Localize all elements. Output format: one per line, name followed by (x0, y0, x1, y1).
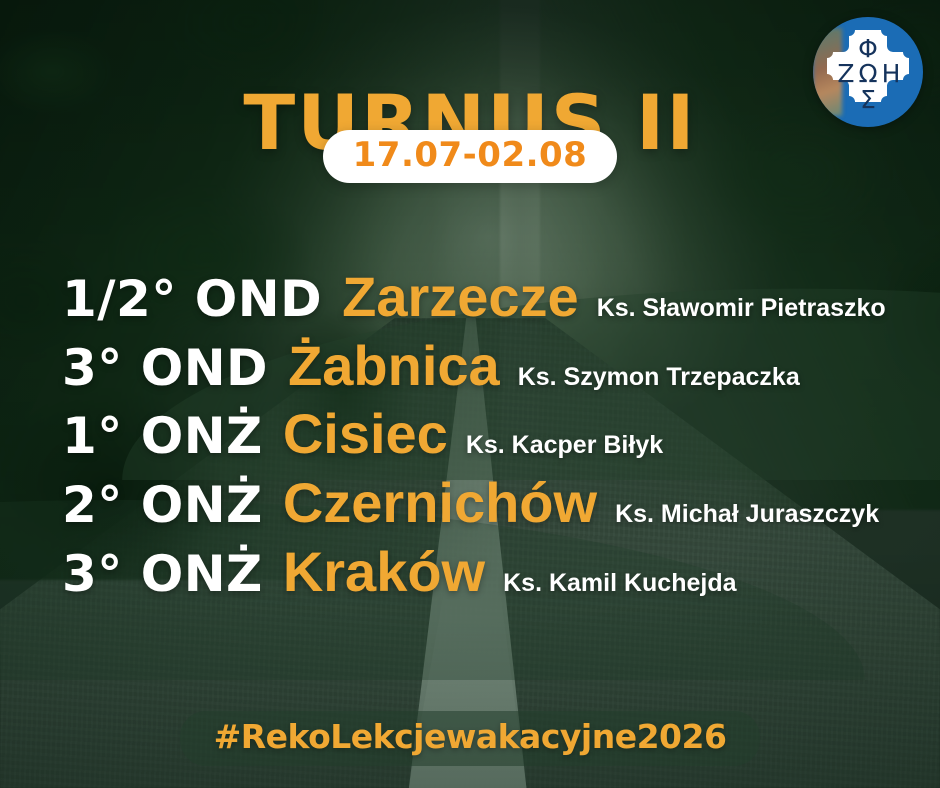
phos-zoe-logo: Φ Ζ Ω Η Σ (813, 17, 923, 127)
camp-location: Kraków (283, 541, 485, 604)
camp-list: 1/2° OND Zarzecze Ks. Sławomir Pietraszk… (0, 266, 940, 610)
logo-letter-eta: Η (882, 59, 901, 88)
camp-code: 2° ONŻ (62, 477, 263, 533)
camp-code: 1° ONŻ (62, 408, 263, 464)
logo-cross-icon: Φ Ζ Ω Η Σ (813, 17, 923, 127)
camp-chaplain: Ks. Szymon Trzepaczka (518, 363, 800, 391)
hashtag-container: #RekoLekcjewakacyjne2026 (0, 711, 940, 766)
list-item: 2° ONŻ Czernichów Ks. Michał Juraszczyk (0, 472, 940, 535)
list-item: 1° ONŻ Cisiec Ks. Kacper Biłyk (0, 403, 940, 466)
camp-location: Cisiec (283, 403, 448, 466)
poster-canvas: TURNUS II 17.07-02.08 Φ Ζ Ω Η Σ 1/2° OND… (0, 0, 940, 788)
hashtag-banner: #RekoLekcjewakacyjne2026 (180, 711, 761, 766)
logo-letter-zeta: Ζ (837, 59, 854, 88)
camp-chaplain: Ks. Sławomir Pietraszko (597, 294, 886, 322)
logo-letter-omega: Ω (858, 59, 877, 88)
camp-code: 3° OND (62, 340, 268, 396)
date-range-badge: 17.07-02.08 (323, 130, 618, 183)
camp-chaplain: Ks. Kacper Biłyk (466, 431, 663, 459)
list-item: 3° OND Żabnica Ks. Szymon Trzepaczka (0, 335, 940, 398)
camp-chaplain: Ks. Kamil Kuchejda (503, 569, 736, 597)
list-item: 1/2° OND Zarzecze Ks. Sławomir Pietraszk… (0, 266, 940, 329)
camp-code: 3° ONŻ (62, 546, 263, 602)
camp-location: Zarzecze (342, 266, 579, 329)
camp-chaplain: Ks. Michał Juraszczyk (615, 500, 879, 528)
logo-letter-sigma: Σ (860, 85, 876, 114)
camp-code: 1/2° OND (62, 271, 322, 327)
date-badge-container: 17.07-02.08 (0, 130, 940, 183)
camp-location: Żabnica (288, 335, 500, 398)
list-item: 3° ONŻ Kraków Ks. Kamil Kuchejda (0, 541, 940, 604)
poster-content: TURNUS II 17.07-02.08 Φ Ζ Ω Η Σ 1/2° OND… (0, 0, 940, 788)
camp-location: Czernichów (283, 472, 597, 535)
